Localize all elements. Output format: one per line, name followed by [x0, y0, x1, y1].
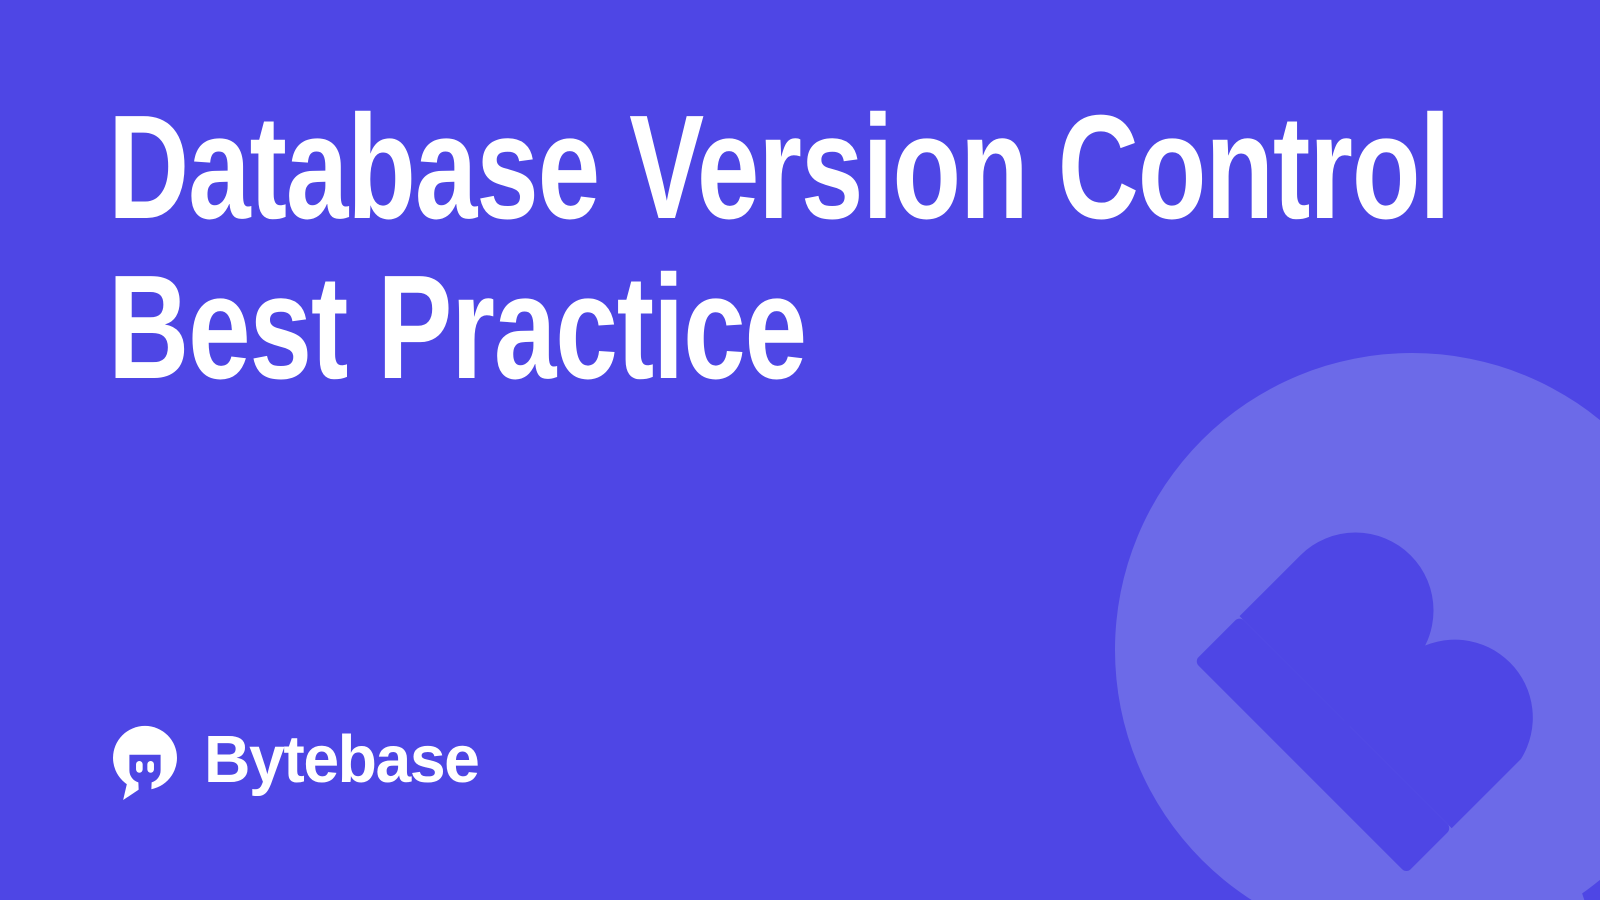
watermark-bubble: [1050, 330, 1600, 900]
page-title-line-1: Database Version Control: [108, 88, 1172, 248]
bytebase-chat-bubble-mark: [106, 722, 184, 800]
bytebase-logo-lockup: Bytebase: [106, 722, 490, 800]
page-title-line-2: Best Practice: [108, 248, 1172, 408]
bytebase-wordmark: Bytebase: [204, 726, 479, 797]
page-title: Database Version Control Best Practice: [108, 88, 1508, 408]
banner-canvas: Database Version Control Best Practice B…: [0, 0, 1600, 900]
